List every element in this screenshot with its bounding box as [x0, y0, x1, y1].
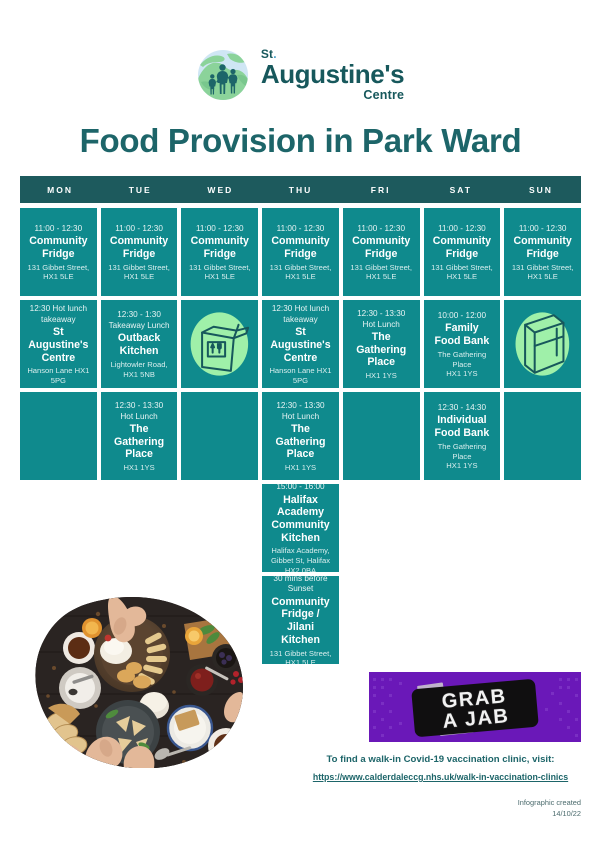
slot-blank-fri-3 [343, 392, 420, 480]
slot-sun-1[interactable]: 11:00 - 12:30CommunityFridge131 Gibbet S… [504, 208, 581, 296]
slot-provider-name: CommunityFridge [352, 235, 410, 260]
slot-time: 12:30 - 13:30Hot Lunch [115, 401, 163, 422]
slot-sat-2[interactable]: 10:00 - 12:00FamilyFood BankThe Gatherin… [424, 300, 501, 388]
slot-empty-sun-5 [504, 576, 581, 664]
slot-thu-4[interactable]: 15:00 - 16:00Halifax AcademyCommunityKit… [262, 484, 339, 572]
takeaway-bag-icon [181, 300, 258, 388]
slot-time: 12:30 - 14:30 [438, 403, 486, 414]
slot-address: Hanson Lane HX15PG [27, 366, 89, 386]
slot-thu-2[interactable]: 12:30 Hot lunchtakeawaySt Augustine'sCen… [262, 300, 339, 388]
slot-time: 11:00 - 12:30 [519, 224, 567, 235]
slot-provider-name: CommunityFridge [110, 235, 168, 260]
slot-provider-name: CommunityFridge [433, 235, 491, 260]
brand-line-augustines: Augustine's [261, 61, 404, 87]
slot-sat-3[interactable]: 12:30 - 14:30IndividualFood BankThe Gath… [424, 392, 501, 480]
slot-address: 131 Gibbet Street,HX1 5LE [270, 649, 332, 664]
slot-provider-name: The GatheringPlace [267, 423, 334, 461]
slot-time: 12:30 Hot lunchtakeaway [272, 304, 329, 325]
slot-address: 131 Gibbet Street,HX1 5LE [108, 263, 170, 283]
slot-empty-sun-4 [504, 484, 581, 572]
weekday-thu: THU [260, 176, 340, 203]
fridge-icon [504, 300, 581, 388]
slot-fri-1[interactable]: 11:00 - 12:30CommunityFridge131 Gibbet S… [343, 208, 420, 296]
slot-provider-name: IndividualFood Bank [435, 414, 490, 439]
globe-family-icon [197, 49, 249, 101]
page-title: Food Provision in Park Ward [0, 122, 601, 160]
weekday-tue: TUE [100, 176, 180, 203]
slot-provider-name: St Augustine'sCentre [267, 326, 334, 364]
weekday-mon: MON [20, 176, 100, 203]
brand-logo: St. Augustine's Centre [0, 44, 601, 106]
credit-date: 14/10/22 [518, 809, 581, 820]
slot-address: The Gathering PlaceHX1 1YS [429, 442, 496, 472]
slot-blank-sun-3 [504, 392, 581, 480]
slot-provider-name: CommunityFridge / JilaniKitchen [267, 596, 334, 647]
vaccination-clinic-link[interactable]: https://www.calderdaleccg.nhs.uk/walk-in… [313, 771, 568, 783]
slot-fri-2[interactable]: 12:30 - 13:30Hot LunchThe GatheringPlace… [343, 300, 420, 388]
slot-tue-1[interactable]: 11:00 - 12:30CommunityFridge131 Gibbet S… [101, 208, 178, 296]
slot-empty-fri-5 [343, 576, 420, 664]
slot-address: HX1 1YS [285, 463, 316, 473]
food-spread-photo [34, 596, 246, 768]
slot-mon-1[interactable]: 11:00 - 12:30CommunityFridge131 Gibbet S… [20, 208, 97, 296]
slot-time: 12:30 Hot lunchtakeaway [30, 304, 87, 325]
slot-address: 131 Gibbet Street,HX1 5LE [431, 263, 493, 283]
slot-provider-name: CommunityFridge [271, 235, 329, 260]
brand-wordmark: St. Augustine's Centre [261, 48, 404, 102]
slot-tue-2[interactable]: 12:30 - 1:30Takeaway LunchOutbackKitchen… [101, 300, 178, 388]
slot-empty-sat-4 [424, 484, 501, 572]
slot-blank-wed-3 [181, 392, 258, 480]
slot-provider-name: CommunityFridge [191, 235, 249, 260]
slot-time: 30 mins beforeSunset [273, 576, 327, 595]
brand-line-centre: Centre [261, 89, 404, 102]
slot-provider-name: The GatheringPlace [348, 331, 415, 369]
slot-blank-mon-3 [20, 392, 97, 480]
slot-time: 11:00 - 12:30 [357, 224, 405, 235]
slot-time: 11:00 - 12:30 [438, 224, 486, 235]
slot-provider-name: CommunityFridge [29, 235, 87, 260]
weekday-sun: SUN [501, 176, 581, 203]
grab-a-jab-banner: GRAB A JAB [369, 672, 581, 742]
slot-time: 11:00 - 12:30 [35, 224, 83, 235]
slot-provider-name: The GatheringPlace [106, 423, 173, 461]
slot-empty-wed-4 [181, 484, 258, 572]
infographic-credit: Infographic created 14/10/22 [518, 798, 581, 819]
slot-address: Lightowler Road,HX1 5NB [111, 360, 168, 380]
slot-address: 131 Gibbet Street,HX1 5LE [189, 263, 251, 283]
slot-provider-name: St Augustine'sCentre [25, 326, 92, 364]
slot-time: 11:00 - 12:30 [115, 224, 163, 235]
slot-empty-mon-4 [20, 484, 97, 572]
slot-provider-name: CommunityFridge [514, 235, 572, 260]
slot-address: 131 Gibbet Street,HX1 5LE [28, 263, 90, 283]
slot-time: 11:00 - 12:30 [277, 224, 325, 235]
slot-address: HX1 1YS [366, 371, 397, 381]
slot-thu-3[interactable]: 12:30 - 13:30Hot LunchThe GatheringPlace… [262, 392, 339, 480]
slot-provider-name: Halifax AcademyCommunityKitchen [267, 494, 334, 545]
weekday-fri: FRI [341, 176, 421, 203]
slot-address: 131 Gibbet Street,HX1 5LE [270, 263, 332, 283]
slot-thu-5[interactable]: 30 mins beforeSunsetCommunityFridge / Ji… [262, 576, 339, 664]
weekday-wed: WED [180, 176, 260, 203]
slot-empty-fri-4 [343, 484, 420, 572]
slot-empty-sat-5 [424, 576, 501, 664]
slot-wed-1[interactable]: 11:00 - 12:30CommunityFridge131 Gibbet S… [181, 208, 258, 296]
slot-address: Hanson Lane HX15PG [269, 366, 331, 386]
slot-time: 12:30 - 13:30Hot Lunch [357, 309, 405, 330]
slot-mon-2[interactable]: 12:30 Hot lunchtakeawaySt Augustine'sCen… [20, 300, 97, 388]
vaccination-info: To find a walk-in Covid-19 vaccination c… [300, 754, 581, 785]
slot-tue-3[interactable]: 12:30 - 13:30Hot LunchThe GatheringPlace… [101, 392, 178, 480]
vaccination-message: To find a walk-in Covid-19 vaccination c… [300, 754, 581, 767]
slot-sat-1[interactable]: 11:00 - 12:30CommunityFridge131 Gibbet S… [424, 208, 501, 296]
slot-provider-name: OutbackKitchen [118, 332, 160, 357]
slot-empty-tue-4 [101, 484, 178, 572]
slot-address: HX1 1YS [123, 463, 154, 473]
slot-time: 12:30 - 1:30Takeaway Lunch [109, 310, 170, 331]
credit-label: Infographic created [518, 798, 581, 809]
weekday-sat: SAT [421, 176, 501, 203]
weekday-header-row: MONTUEWEDTHUFRISATSUN [20, 176, 581, 203]
slot-time: 12:30 - 13:30Hot Lunch [276, 401, 324, 422]
slot-address: Halifax Academy,Gibbet St, HalifaxHX2 0B… [271, 546, 330, 572]
slot-address: The Gathering PlaceHX1 1YS [429, 350, 496, 380]
slot-time: 15:00 - 16:00 [276, 484, 324, 493]
grab-a-jab-logo: GRAB A JAB [369, 672, 581, 742]
slot-time: 11:00 - 12:30 [196, 224, 244, 235]
slot-thu-1[interactable]: 11:00 - 12:30CommunityFridge131 Gibbet S… [262, 208, 339, 296]
slot-time: 10:00 - 12:00 [438, 311, 486, 322]
slot-provider-name: FamilyFood Bank [435, 322, 490, 347]
slot-address: 131 Gibbet Street,HX1 5LE [350, 263, 412, 283]
slot-address: 131 Gibbet Street,HX1 5LE [512, 263, 574, 283]
